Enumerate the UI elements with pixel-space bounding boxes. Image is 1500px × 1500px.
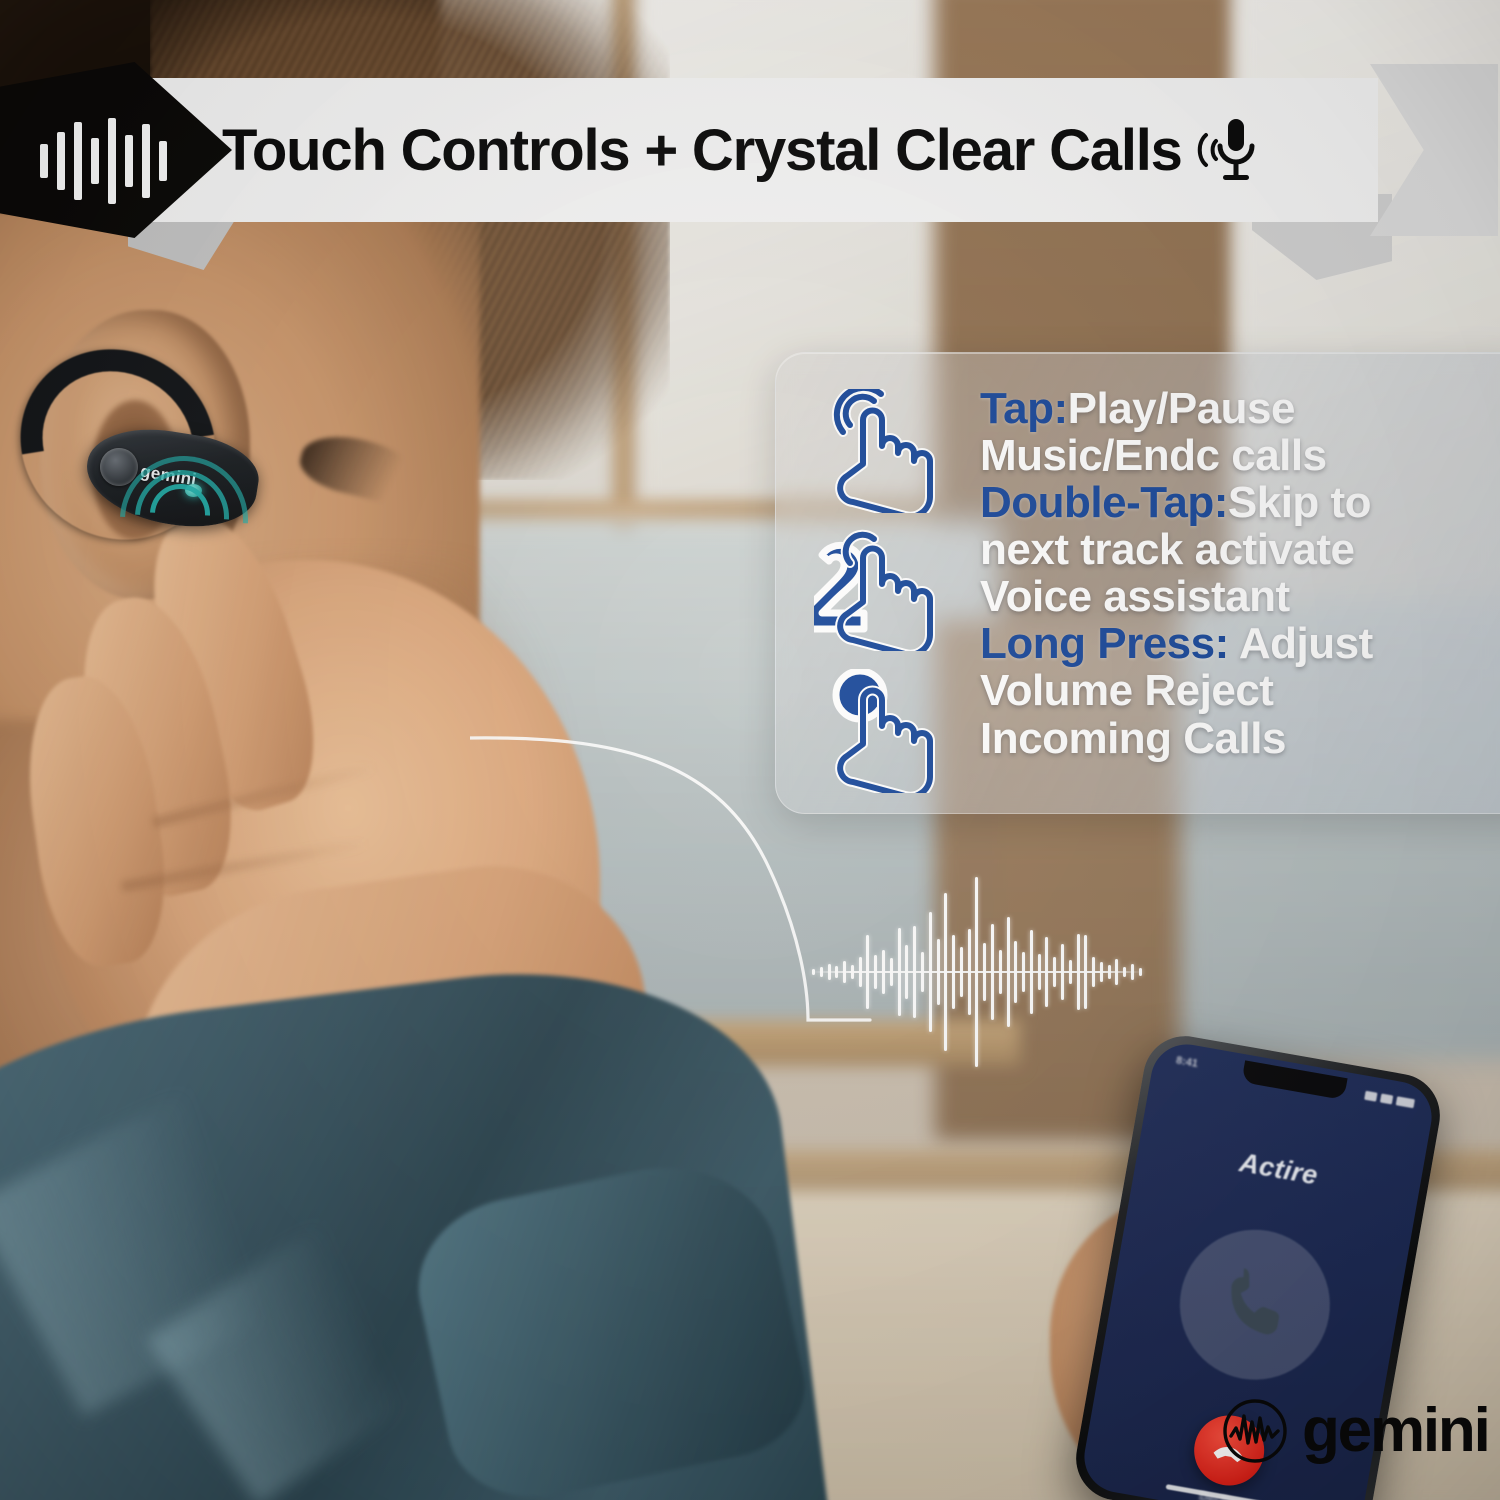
wifi-icon — [1380, 1094, 1393, 1105]
waveform-bar — [1069, 960, 1072, 984]
sound-bar — [125, 135, 133, 187]
waveform-bar — [960, 947, 963, 997]
waveform-bar — [968, 929, 971, 1015]
panel-text-line: Volume Reject — [980, 667, 1500, 714]
sound-bar — [91, 138, 99, 184]
waveform-bar — [991, 924, 994, 1020]
waveform-bar — [1077, 934, 1080, 1010]
waveform-bar — [843, 961, 846, 983]
waveform-bar — [1108, 965, 1111, 979]
gesture-description: next track activate — [980, 525, 1355, 574]
waveform-bar — [913, 926, 916, 1018]
status-bar-indicators — [1364, 1091, 1415, 1109]
sound-bar — [40, 144, 48, 178]
avatar — [1168, 1218, 1342, 1392]
waveform-bar — [866, 935, 869, 1009]
single-tap-hand-icon — [814, 389, 956, 513]
waveform-bar — [929, 912, 932, 1032]
panel-text-line: Incoming Calls — [980, 715, 1500, 762]
panel-text-line: Voice assistant — [980, 573, 1500, 620]
waveform-bars — [812, 872, 1142, 1072]
waveform-bar — [1092, 957, 1095, 987]
panel-text-line: Double-Tap:Skip to — [980, 479, 1500, 526]
signal-icon — [1364, 1091, 1377, 1102]
panel-text-line: next track activate — [980, 526, 1500, 573]
phone-handset-icon — [1212, 1262, 1298, 1348]
touch-controls-panel: Tap:Play/PauseMusic/Endc callsDouble-Tap… — [775, 352, 1500, 814]
waveform-bar — [835, 966, 838, 978]
waveform-bar — [905, 945, 908, 999]
waveform-bar — [1014, 941, 1017, 1003]
waveform-bar — [1123, 967, 1126, 977]
gesture-description: Play/Pause — [1068, 384, 1295, 433]
gesture-description: Skip to — [1228, 478, 1371, 527]
touch-controls-text: Tap:Play/PauseMusic/Endc callsDouble-Tap… — [962, 379, 1500, 787]
sound-bars-icon — [40, 118, 167, 204]
long-press-hand-icon — [814, 669, 956, 793]
waveform-bar — [820, 967, 823, 977]
headline-ribbon: Touch Controls + Crystal Clear Calls — [0, 78, 1380, 222]
sound-bar — [159, 141, 167, 181]
waveform-bar — [1030, 930, 1033, 1014]
waveform-bar — [1053, 957, 1056, 987]
waveform-bar — [999, 950, 1002, 994]
waveform-bar — [1045, 937, 1048, 1007]
gesture-keyword: Double-Tap: — [980, 478, 1228, 527]
brand-logo: gemini — [1222, 1398, 1489, 1464]
sound-bar — [74, 122, 82, 200]
gesture-keyword: Long Press: — [980, 619, 1229, 668]
ribbon-body: Touch Controls + Crystal Clear Calls — [128, 78, 1378, 222]
waveform-bar — [1007, 917, 1010, 1027]
waveform-bar — [1038, 954, 1041, 990]
waveform-bar — [1131, 964, 1134, 980]
panel-text-line: Tap:Play/Pause — [980, 385, 1500, 432]
battery-icon — [1396, 1096, 1415, 1108]
waveform-bar — [851, 965, 854, 979]
waveform-bar — [983, 943, 986, 1001]
gemini-waveform-circle-icon — [1222, 1398, 1288, 1464]
waveform-bar — [1084, 935, 1087, 1009]
audio-waveform-graphic — [812, 872, 1142, 1072]
gesture-description: Incoming Calls — [980, 714, 1286, 763]
waveform-bar — [975, 877, 978, 1067]
waveform-bar — [944, 893, 947, 1051]
waveform-bar — [1139, 968, 1142, 976]
waveform-bar — [1100, 962, 1103, 982]
call-state-label: Actire — [1136, 1129, 1421, 1209]
waveform-bar — [882, 950, 885, 994]
waveform-bar — [812, 969, 815, 975]
headline-text: Touch Controls + Crystal Clear Calls — [222, 117, 1182, 184]
waveform-bar — [1022, 952, 1025, 992]
double-tap-hand-icon — [814, 527, 956, 651]
product-infographic: gemini Touch Controls + Crystal Clear Ca… — [0, 0, 1500, 1500]
waveform-bar — [937, 939, 940, 1005]
gesture-description: Music/Endc calls — [980, 431, 1327, 480]
panel-text-line: Long Press: Adjust — [980, 620, 1500, 667]
sound-bar — [142, 124, 150, 198]
brand-name: gemini — [1302, 1400, 1489, 1462]
sound-bar — [57, 132, 65, 190]
waveform-bar — [921, 952, 924, 992]
waveform-bar — [859, 957, 862, 987]
waveform-bar — [828, 964, 831, 980]
gesture-keyword: Tap: — [980, 384, 1068, 433]
panel-text-line: Music/Endc calls — [980, 432, 1500, 479]
waveform-bar — [898, 928, 901, 1016]
waveform-bar — [1115, 959, 1118, 985]
waveform-bar — [874, 955, 877, 989]
sound-bar — [108, 118, 116, 204]
gesture-icon-column — [812, 379, 962, 787]
status-bar-time: 8:41 — [1175, 1054, 1199, 1070]
waveform-bar — [890, 958, 893, 986]
gesture-description: Volume Reject — [980, 666, 1273, 715]
waveform-bar — [1061, 944, 1064, 1000]
gesture-description: Voice assistant — [980, 572, 1290, 621]
gesture-description: Adjust — [1229, 619, 1373, 668]
waveform-bar — [952, 935, 955, 1009]
microphone-with-soundwaves-icon — [1196, 113, 1260, 187]
